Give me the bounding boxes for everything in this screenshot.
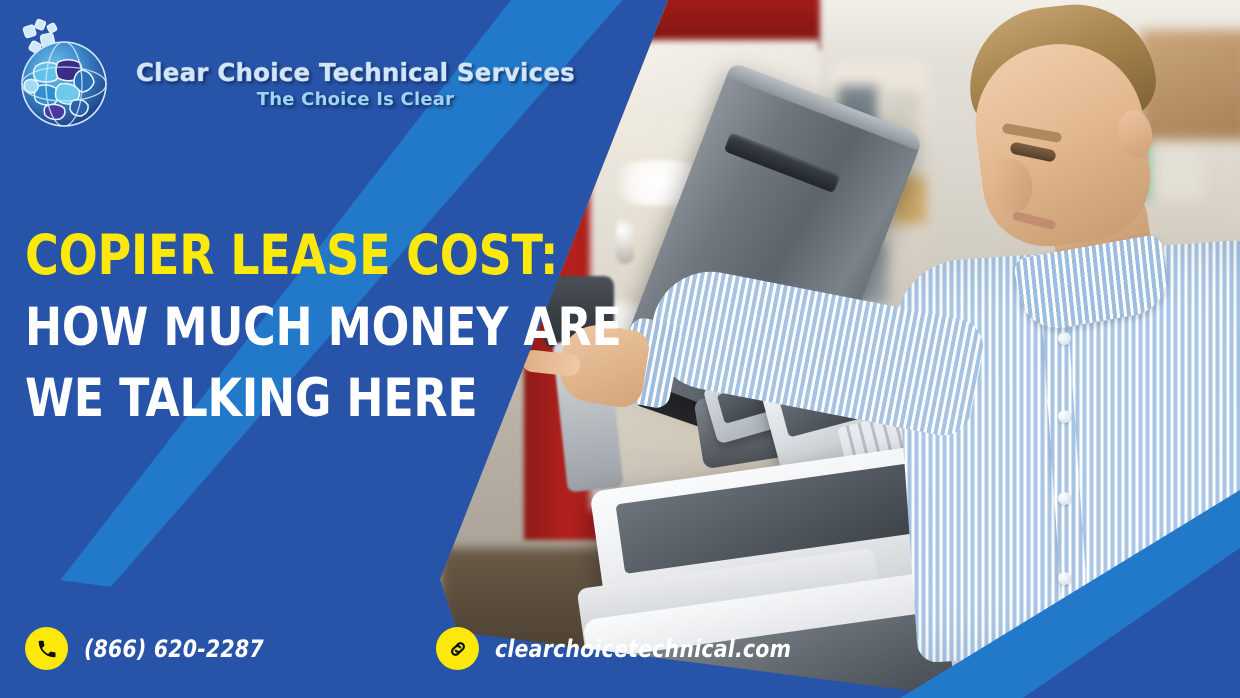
brand-tagline: The Choice Is Clear — [136, 89, 575, 110]
shirt-button — [1058, 332, 1071, 345]
phone-number: (866) 620-2287 — [84, 635, 264, 663]
link-icon — [436, 627, 479, 670]
headline-block: COPIER LEASE COST: HOW MUCH MONEY ARE WE… — [25, 228, 585, 443]
contact-website[interactable]: clearchoicetechnical.com — [436, 627, 807, 670]
phone-icon — [25, 627, 68, 670]
headline-line-3: WE TALKING HERE — [25, 372, 546, 425]
contact-footer: (866) 620-2287 clearchoicetechnical.com — [25, 627, 807, 670]
headline-line-2: HOW MUCH MONEY ARE — [25, 301, 546, 354]
brand-header: Clear Choice Technical Services The Choi… — [0, 0, 575, 132]
puzzle-globe-icon — [8, 14, 120, 132]
headline-line-1: COPIER LEASE COST: — [25, 228, 546, 283]
shirt-button — [1058, 492, 1071, 505]
shirt-button — [1058, 572, 1071, 585]
promo-banner: Clear Choice Technical Services The Choi… — [0, 0, 1240, 698]
shirt-button — [1058, 410, 1071, 423]
brand-name: Clear Choice Technical Services — [136, 58, 575, 87]
brand-text: Clear Choice Technical Services The Choi… — [136, 36, 575, 110]
copier-lid-handle — [724, 132, 841, 193]
contact-phone[interactable]: (866) 620-2287 — [25, 627, 273, 670]
website-url: clearchoicetechnical.com — [495, 635, 791, 663]
